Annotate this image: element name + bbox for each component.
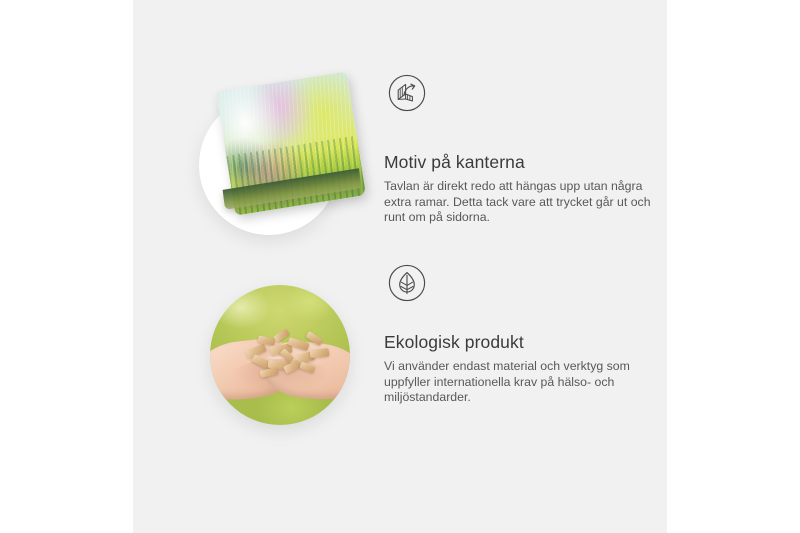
- wood-chip: [259, 367, 278, 378]
- wood-chip: [310, 348, 330, 358]
- product-feature-banner: Motiv på kanterna Tavlan är direkt redo …: [0, 0, 800, 533]
- wood-chip: [299, 361, 316, 373]
- content-panel: Motiv på kanterna Tavlan är direkt redo …: [133, 0, 667, 533]
- leaf-icon: [388, 264, 426, 302]
- wood-chip: [273, 328, 289, 342]
- feature-row-motif-edges: Motiv på kanterna Tavlan är direkt redo …: [133, 60, 667, 275]
- wood-chips-pile: [244, 331, 330, 379]
- canvas-corner-photo: [199, 95, 339, 235]
- feature-text-block: Ekologisk produkt Vi använder endast mat…: [384, 332, 662, 406]
- hands-with-wood-chips-photo: [210, 285, 350, 425]
- feature-row-eco-product: Ekologisk produkt Vi använder endast mat…: [133, 250, 667, 465]
- feature-description: Vi använder endast material och verktyg …: [384, 359, 662, 406]
- feature-title: Motiv på kanterna: [384, 152, 662, 173]
- canvas-wrapped-edge-icon: [388, 74, 426, 112]
- feature-title: Ekologisk produkt: [384, 332, 662, 353]
- feature-description: Tavlan är direkt redo att hängas upp uta…: [384, 179, 662, 226]
- feature-text-block: Motiv på kanterna Tavlan är direkt redo …: [384, 152, 662, 226]
